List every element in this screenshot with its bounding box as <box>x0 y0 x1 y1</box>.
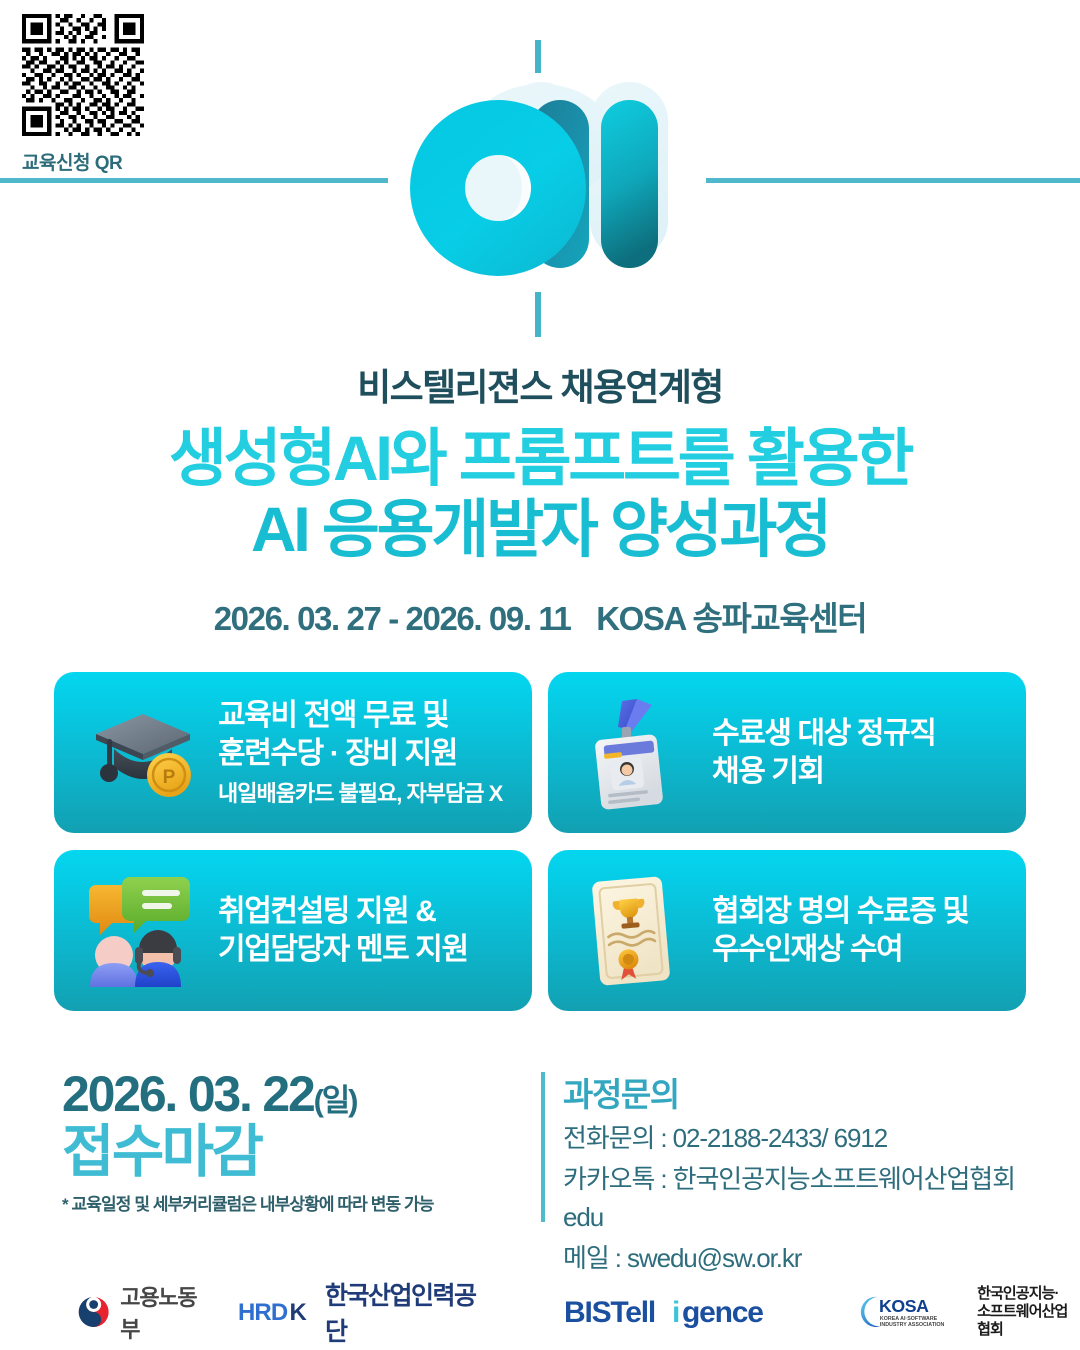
logo-kosa-korean: 한국인공지능· 소프트웨어산업협회 <box>977 1285 1080 1338</box>
feature-card-text: 협회장 명의 수료증 및 우수인재상 수여 <box>712 893 1016 969</box>
korea-taegeuk-icon <box>76 1292 111 1332</box>
contact-phone[interactable]: 전화문의 : 02-2188-2433/ 6912 <box>563 1120 1043 1157</box>
svg-text:BISTell: BISTell <box>564 1296 655 1329</box>
feature-card-title: 교육비 전액 무료 및 훈련수당 · 장비 지원 <box>218 697 522 773</box>
svg-text:i: i <box>672 1296 679 1329</box>
contact-email[interactable]: 메일 : swedu@sw.or.kr <box>563 1240 1043 1277</box>
logo-hrdk: HRD K 한국산업인력공단 <box>238 1276 477 1348</box>
deadline-block: 2026. 03. 22(일) 접수마감 * 교육일정 및 세부커리큘럼은 내부… <box>62 1068 532 1215</box>
feature-card-certificate[interactable]: 협회장 명의 수료증 및 우수인재상 수여 <box>548 850 1026 1011</box>
deadline-date-row: 2026. 03. 22(일) <box>62 1068 532 1121</box>
logo-molab-label: 고용노동부 <box>120 1280 204 1344</box>
course-venue: KOSA 송파교육센터 <box>596 600 866 637</box>
divider-vertical-bottom <box>535 292 541 337</box>
logo-kosa-ko-line1: 한국인공지능· <box>977 1285 1080 1303</box>
logo-kosa-ko-line2: 소프트웨어산업협회 <box>977 1303 1080 1338</box>
qr-block: 교육신청 QR <box>22 14 167 175</box>
kosa-sub1: KOREA AI·SOFTWARE <box>880 1316 938 1322</box>
kosa-logo-icon: KOSA KOREA AI·SOFTWARE INDUSTRY ASSOCIAT… <box>856 1290 969 1334</box>
headline-line-1: 생성형AI와 프롬프트를 활용한 <box>169 424 911 494</box>
bistelligence-wordmark-icon: BISTell i gence <box>564 1294 784 1330</box>
qr-caption: 교육신청 QR <box>22 148 167 175</box>
footer-logos: 고용노동부 HRD K 한국산업인력공단 BISTell i gence KOS… <box>0 1274 1080 1350</box>
feature-card-hiring[interactable]: 수료생 대상 정규직 채용 기회 <box>548 672 1026 833</box>
feature-card-text: 수료생 대상 정규직 채용 기회 <box>712 715 1016 791</box>
id-badge-icon <box>562 695 712 811</box>
qr-code-icon[interactable] <box>22 14 144 136</box>
deadline-label: 접수마감 <box>62 1123 532 1183</box>
svg-text:gence: gence <box>682 1296 763 1329</box>
deadline-date: 2026. 03. 22 <box>62 1066 314 1122</box>
hrdk-wordmark-icon: HRD K <box>238 1296 320 1328</box>
certificate-trophy-icon <box>562 871 712 991</box>
feature-card-title: 취업컨설팅 지원 & 기업담당자 멘토 지원 <box>218 893 522 969</box>
feature-card-title: 협회장 명의 수료증 및 우수인재상 수여 <box>712 893 1016 969</box>
divider-left <box>0 178 388 183</box>
headline-line-2: AI 응용개발자 양성과정 <box>0 495 1080 566</box>
divider-vertical-top <box>535 40 541 73</box>
svg-text:K: K <box>290 1299 308 1326</box>
people-chat-icon <box>68 873 218 989</box>
svg-text:KOSA: KOSA <box>879 1296 929 1316</box>
logo-kosa: KOSA KOREA AI·SOFTWARE INDUSTRY ASSOCIAT… <box>856 1285 1080 1338</box>
kosa-sub2: INDUSTRY ASSOCIATION <box>880 1322 945 1328</box>
ai-logo-icon <box>405 70 695 285</box>
logo-hrdk-label: 한국산업인력공단 <box>325 1276 478 1348</box>
feature-card-consulting[interactable]: 취업컨설팅 지원 & 기업담당자 멘토 지원 <box>54 850 532 1011</box>
svg-text:P: P <box>163 767 176 788</box>
logo-molab: 고용노동부 <box>76 1280 204 1344</box>
logo-bistelligence: BISTell i gence <box>564 1294 784 1330</box>
deadline-note: * 교육일정 및 세부커리큘럼은 내부상황에 따라 변동 가능 <box>62 1190 532 1215</box>
eyebrow-text: 비스텔리젼스 채용연계형 <box>0 357 1080 411</box>
contact-heading: 과정문의 <box>563 1068 1043 1116</box>
feature-card-title: 수료생 대상 정규직 채용 기회 <box>712 715 1016 791</box>
feature-card-tuition[interactable]: P 교육비 전액 무료 및 훈련수당 · 장비 지원 내일배움카드 불필요, 자… <box>54 672 532 833</box>
svg-text:HRD: HRD <box>238 1299 288 1326</box>
feature-card-subtitle: 내일배움카드 불필요, 자부담금 X <box>218 776 522 808</box>
feature-card-grid: P 교육비 전액 무료 및 훈련수당 · 장비 지원 내일배움카드 불필요, 자… <box>54 672 1026 1011</box>
page-title: 생성형AI와 프롬프트를 활용한 AI 응용개발자 양성과정 <box>0 424 1080 565</box>
course-period-line: 2026. 03. 27 - 2026. 09. 11 KOSA 송파교육센터 <box>0 592 1080 640</box>
course-period: 2026. 03. 27 - 2026. 09. 11 <box>214 600 571 637</box>
contact-kakao[interactable]: 카카오톡 : 한국인공지능소프트웨어산업협회edu <box>563 1161 1043 1236</box>
graduation-cap-coin-icon: P <box>68 701 218 805</box>
contact-block: 과정문의 전화문의 : 02-2188-2433/ 6912 카카오톡 : 한국… <box>563 1068 1043 1278</box>
feature-card-text: 교육비 전액 무료 및 훈련수당 · 장비 지원 내일배움카드 불필요, 자부담… <box>218 697 522 809</box>
contact-divider <box>541 1072 545 1222</box>
deadline-day-of-week: (일) <box>314 1083 357 1118</box>
feature-card-text: 취업컨설팅 지원 & 기업담당자 멘토 지원 <box>218 893 522 969</box>
divider-right <box>706 178 1080 183</box>
